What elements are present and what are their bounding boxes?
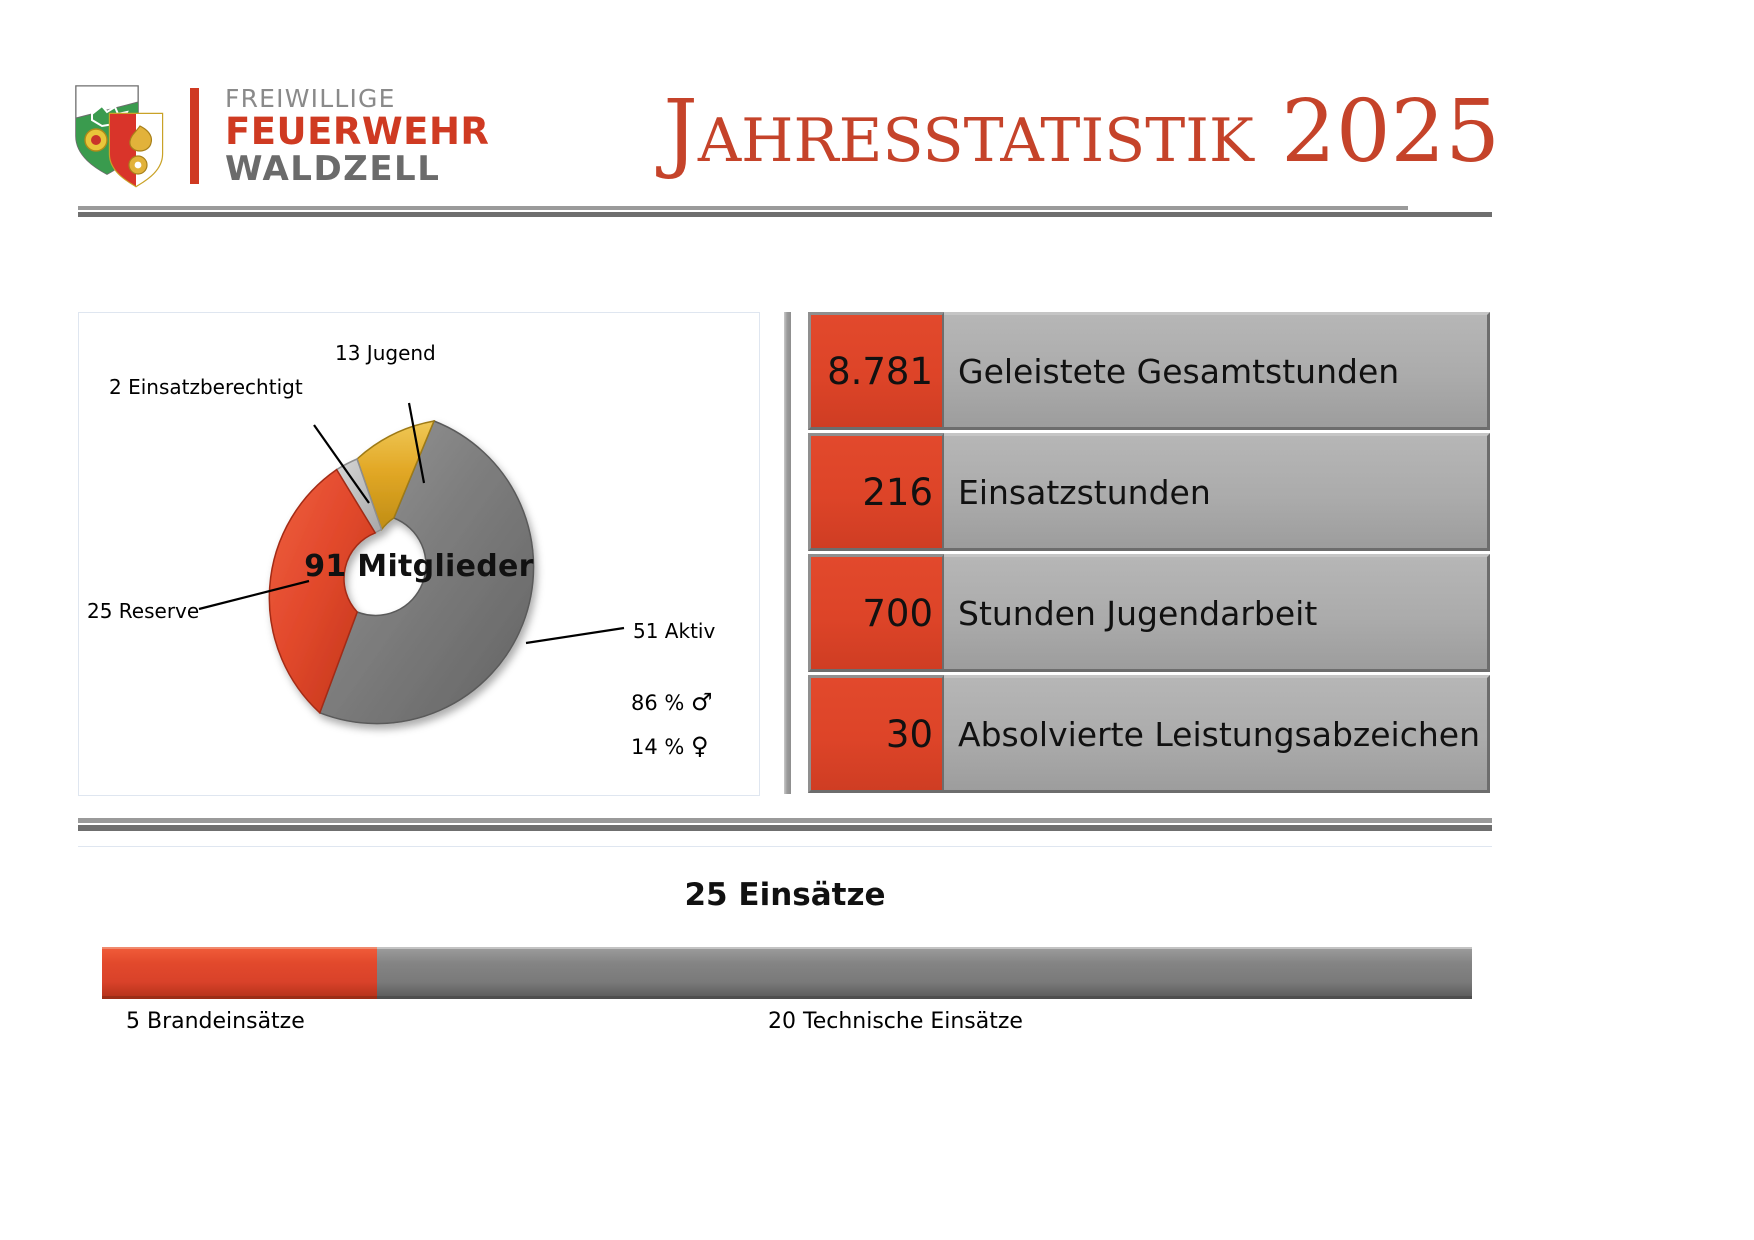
brigade-logo: FREIWILLIGE FEUERWEHR WALDZELL (70, 78, 450, 193)
jahresstatistik-poster: FREIWILLIGE FEUERWEHR WALDZELL Jahressta… (0, 0, 1754, 1240)
waldzell-fire-brigade-crest-icon (70, 80, 170, 192)
donut-label-reserve: 25 Reserve (87, 599, 199, 623)
membership-chart-panel: 91 Mitglieder 13 Jugend 2 Einsatzberecht… (78, 312, 760, 796)
gender-male-row: 86 % ♂ (631, 688, 713, 716)
operations-title: 25 Einsätze (78, 877, 1492, 913)
stat-label: Stunden Jugendarbeit (944, 554, 1490, 672)
section-divider-top (78, 818, 1492, 823)
statistics-table: 8.781 Geleistete Gesamtstunden 216 Einsa… (808, 312, 1490, 794)
table-row: 30 Absolvierte Leistungsabzeichen (808, 675, 1490, 793)
donut-label-jugend: 13 Jugend (335, 341, 436, 365)
gender-female-percent: 14 % (631, 735, 684, 759)
header-divider-top (78, 206, 1408, 210)
stat-label: Geleistete Gesamtstunden (944, 312, 1490, 430)
gender-female-row: 14 % ♀ (631, 732, 709, 760)
gender-male-percent: 86 % (631, 691, 684, 715)
female-symbol-icon: ♀ (691, 732, 709, 760)
donut-label-aktiv: 51 Aktiv (633, 619, 715, 643)
header-divider-bottom (78, 212, 1492, 217)
male-symbol-icon: ♂ (691, 688, 713, 716)
logo-line-feuerwehr: FEUERWEHR (225, 113, 489, 150)
panel-vertical-divider (784, 312, 791, 794)
logo-wordmark: FREIWILLIGE FEUERWEHR WALDZELL (225, 86, 489, 186)
operations-panel: 25 Einsätze 5 Brandeinsätze 20 Technisch… (78, 846, 1492, 1065)
bar-label-technische-einsaetze: 20 Technische Einsätze (768, 1009, 1023, 1034)
table-row: 700 Stunden Jugendarbeit (808, 554, 1490, 672)
stat-label: Absolvierte Leistungsabzeichen (944, 675, 1490, 793)
logo-line-waldzell: WALDZELL (225, 152, 489, 186)
leader-line-aktiv (526, 628, 624, 643)
section-divider-bottom (78, 825, 1492, 831)
donut-center-label: 91 Mitglieder (79, 549, 759, 584)
page-title: Jahresstatistik 2025 (560, 72, 1500, 192)
bar-label-brandeinsaetze: 5 Brandeinsätze (126, 1009, 305, 1034)
stat-value: 30 (808, 675, 944, 793)
page-title-text: Jahresstatistik (663, 82, 1281, 182)
page-title-year: 2025 (1281, 82, 1500, 182)
stat-value: 700 (808, 554, 944, 672)
stat-value: 8.781 (808, 312, 944, 430)
stat-label: Einsatzstunden (944, 433, 1490, 551)
table-row: 216 Einsatzstunden (808, 433, 1490, 551)
stat-value: 216 (808, 433, 944, 551)
donut-label-einsatzberechtigt: 2 Einsatzberechtigt (109, 375, 303, 399)
page-header: FREIWILLIGE FEUERWEHR WALDZELL Jahressta… (0, 0, 1754, 240)
bar-segment-brandeinsaetze (102, 947, 377, 999)
bar-segment-technische-einsaetze (377, 947, 1472, 999)
operations-stacked-bar (102, 947, 1472, 999)
table-row: 8.781 Geleistete Gesamtstunden (808, 312, 1490, 430)
logo-accent-bar (190, 88, 199, 184)
logo-line-freiwillige: FREIWILLIGE (225, 86, 489, 111)
